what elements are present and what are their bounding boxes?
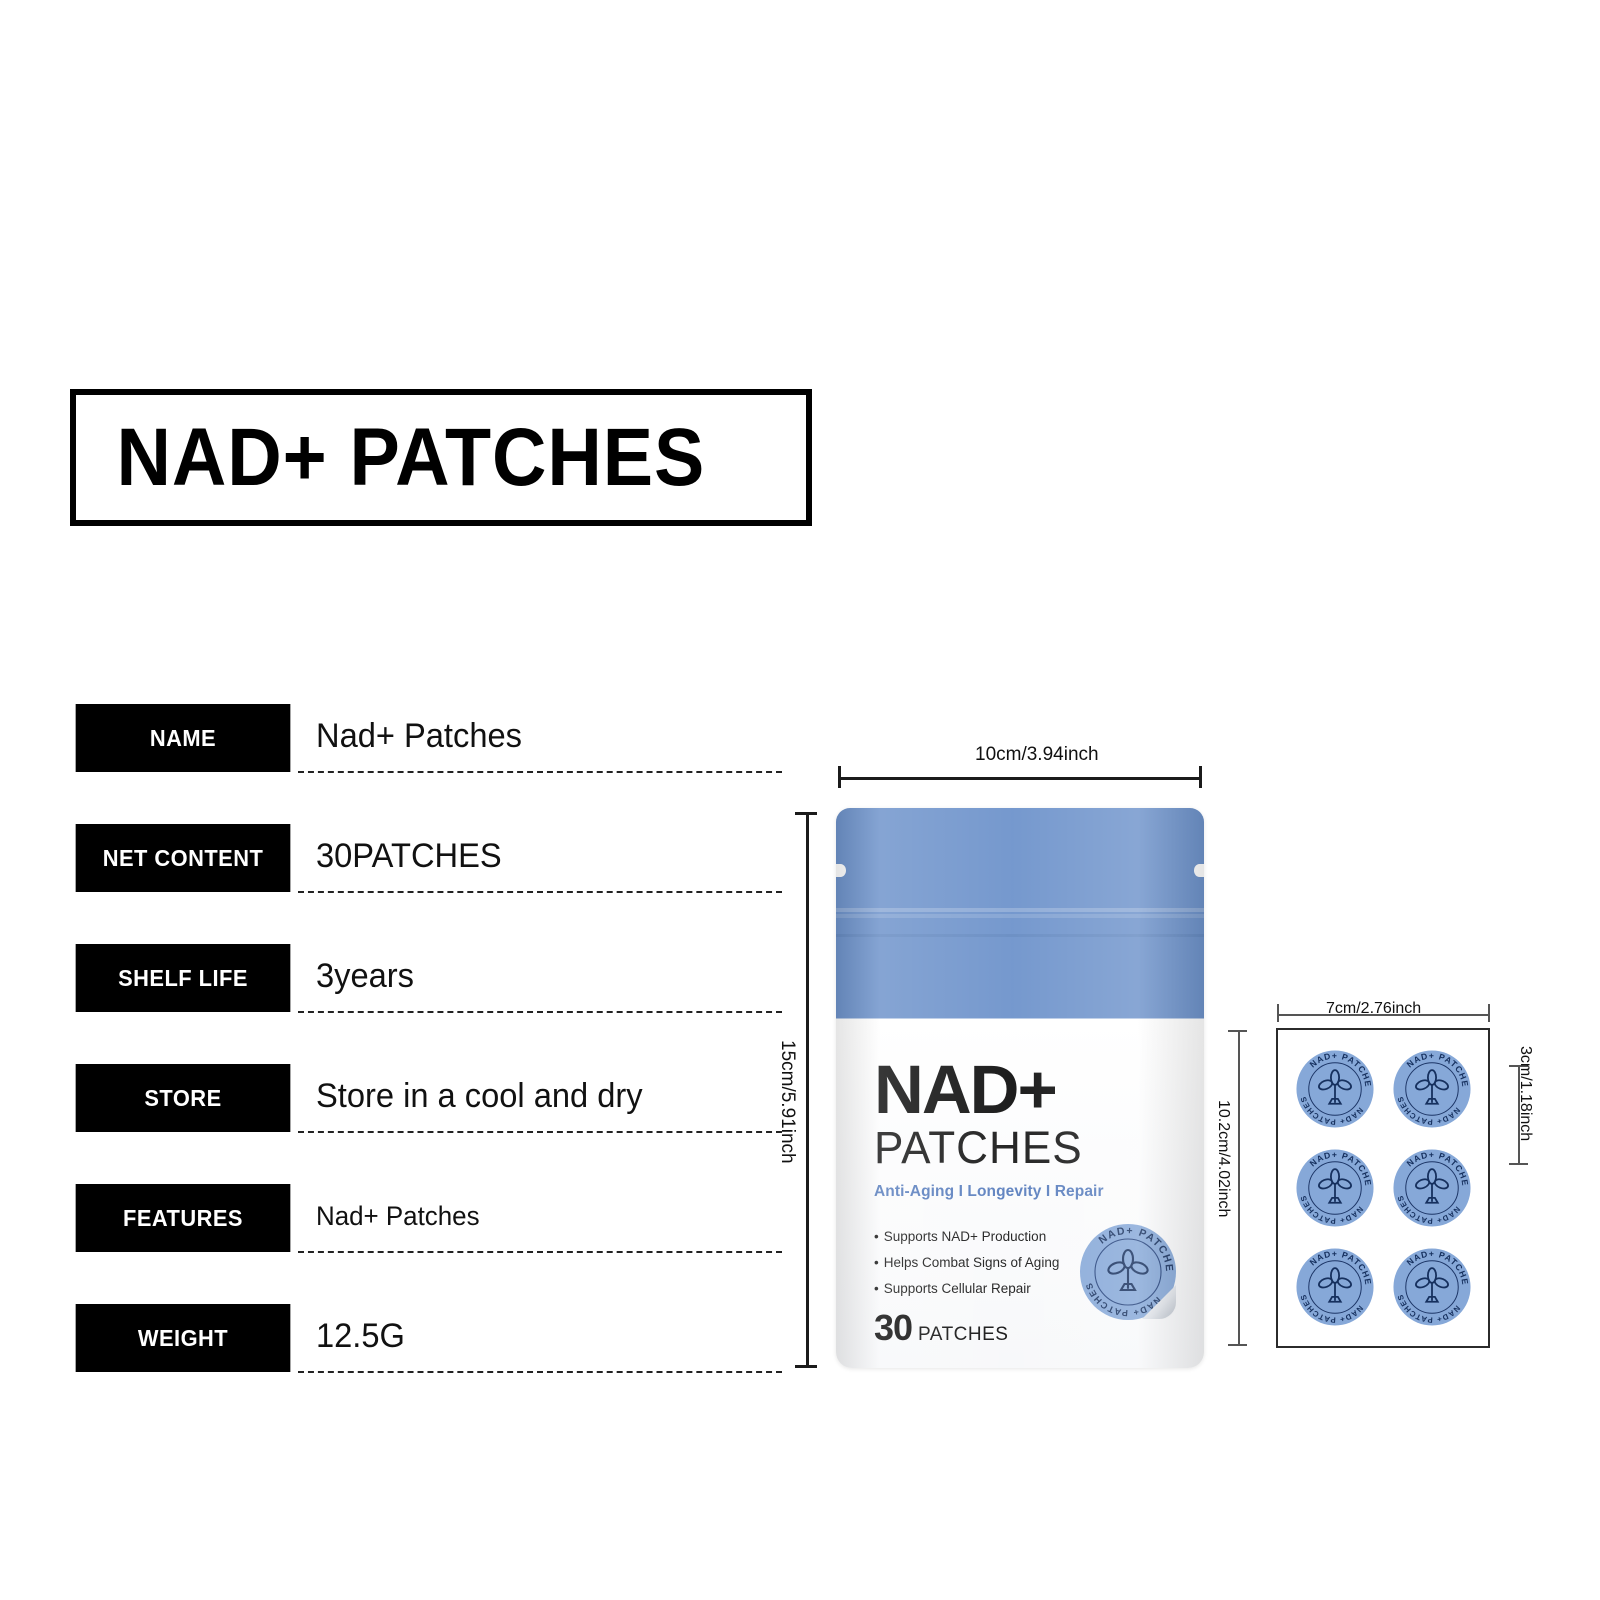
page-title: NAD+ PATCHES <box>76 411 705 505</box>
patch-circle-icon: NAD+ PATCHES NAD+ PATCHES <box>1391 1147 1473 1229</box>
pouch-height-label: 15cm/5.91inch <box>776 1040 798 1164</box>
patch-circle-icon: NAD+ PATCHES NAD+ PATCHES <box>1294 1048 1376 1130</box>
pouch-tagline: Anti-Aging I Longevity I Repair <box>874 1183 1174 1201</box>
spec-value-store: Store in a cool and dry <box>316 1060 643 1132</box>
row-divider <box>298 1251 782 1253</box>
pouch-width-label: 10cm/3.94inch <box>975 744 1099 766</box>
patch-circle-icon: NAD+ PATCHES NAD+ PATCHES <box>1391 1048 1473 1130</box>
patch-circle-icon: NAD+ PATCHES NAD+ PATCHES <box>1294 1147 1376 1229</box>
pouch-height-cap-bottom <box>795 1365 817 1368</box>
table-row: FEATURES Nad+ Patches <box>70 1180 782 1300</box>
product-pouch: NAD+ PATCHES Anti-Aging I Longevity I Re… <box>836 808 1204 1368</box>
row-divider <box>298 1371 782 1373</box>
pouch-brand-line1: NAD+ <box>874 1057 1174 1123</box>
pouch-width-cap-left <box>838 766 841 788</box>
pouch-zipper-line <box>836 908 1204 912</box>
row-divider <box>298 1011 782 1013</box>
sheet-width-cap-right <box>1488 1004 1490 1022</box>
product-spec-page: NAD+ PATCHES NAME Nad+ Patches NET CONTE… <box>0 0 1600 1600</box>
tear-notch-left-icon <box>836 864 846 877</box>
sheet-width-cap-left <box>1277 1004 1279 1022</box>
spec-table: NAME Nad+ Patches NET CONTENT 30PATCHES … <box>70 700 782 1420</box>
table-row: NAME Nad+ Patches <box>70 700 782 820</box>
spec-key-net-content: NET CONTENT <box>76 824 291 892</box>
pouch-body: NAD+ PATCHES Anti-Aging I Longevity I Re… <box>836 808 1204 1368</box>
tear-notch-right-icon <box>1194 864 1204 877</box>
patch-grid: NAD+ PATCHES NAD+ PATCHES <box>1286 1040 1480 1336</box>
pouch-width-cap-right <box>1199 766 1202 788</box>
spec-value-features: Nad+ Patches <box>316 1180 480 1252</box>
patch-circle-icon: NAD+ PATCHES NAD+ PATCHES <box>1294 1246 1376 1328</box>
pouch-seal-badge-icon: NAD+ PATCHES NAD+ PATCHES <box>1078 1222 1178 1322</box>
pouch-count-word: PATCHES <box>918 1324 1008 1346</box>
sheet-width-dimension-line <box>1277 1014 1490 1016</box>
spec-key-name: NAME <box>76 704 291 772</box>
pouch-width-dimension-line <box>838 777 1202 780</box>
pouch-count-number: 30 <box>874 1307 912 1349</box>
sheet-height-cap-bottom <box>1228 1344 1247 1346</box>
spec-value-net-content: 30PATCHES <box>316 820 502 892</box>
spec-value-shelf-life: 3years <box>316 940 414 1012</box>
pouch-height-dimension-line <box>806 812 809 1368</box>
spec-key-store: STORE <box>76 1064 291 1132</box>
row-divider <box>298 1131 782 1133</box>
spec-key-weight: WEIGHT <box>76 1304 291 1372</box>
sheet-height-cap-top <box>1228 1030 1247 1032</box>
spec-value-name: Nad+ Patches <box>316 700 522 772</box>
spec-key-shelf-life: SHELF LIFE <box>76 944 291 1012</box>
table-row: WEIGHT 12.5G <box>70 1300 782 1420</box>
row-divider <box>298 891 782 893</box>
sheet-height-dimension-line <box>1238 1030 1240 1346</box>
spec-key-features: FEATURES <box>76 1184 291 1252</box>
sheet-height-label: 10.2cm/4.02inch <box>1214 1100 1232 1217</box>
row-divider <box>298 771 782 773</box>
table-row: SHELF LIFE 3years <box>70 940 782 1060</box>
pouch-height-cap-top <box>795 812 817 815</box>
patch-diameter-cap-bottom <box>1509 1163 1528 1165</box>
patch-diameter-label: 3cm/1.18inch <box>1516 1046 1534 1141</box>
pouch-brand-line2: PATCHES <box>874 1125 1168 1170</box>
page-title-box: NAD+ PATCHES <box>70 389 812 526</box>
patch-sheet: NAD+ PATCHES NAD+ PATCHES <box>1276 1028 1490 1348</box>
table-row: NET CONTENT 30PATCHES <box>70 820 782 940</box>
spec-value-weight: 12.5G <box>316 1300 405 1372</box>
patch-circle-icon: NAD+ PATCHES NAD+ PATCHES <box>1391 1246 1473 1328</box>
table-row: STORE Store in a cool and dry <box>70 1060 782 1180</box>
pouch-zipper-seal <box>836 934 1204 937</box>
